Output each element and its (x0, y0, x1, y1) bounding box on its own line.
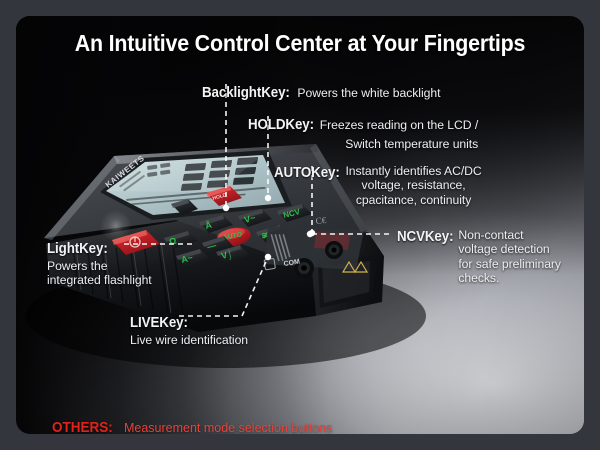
content-panel: KAIWEETS HOLD (16, 16, 584, 434)
infographic-root: KAIWEETS HOLD (0, 0, 600, 450)
annotation-hold: HOLDKey:Freezes reading on the LCD / Swi… (248, 116, 478, 154)
annotation-hold-desc-2: Switch temperature units (345, 137, 478, 151)
annotation-live: LIVEKey: Live wire identification (130, 314, 248, 347)
annotation-hold-desc-1: Freezes reading on the LCD / (320, 118, 478, 132)
page-title: An Intuitive Control Center at Your Fing… (36, 30, 564, 57)
annotation-ncv-desc-2: voltage detection (458, 242, 561, 256)
annotation-light: LightKey: Powers the integrated flashlig… (47, 240, 152, 288)
annotation-light-key: LightKey: (47, 241, 108, 258)
annotation-auto-desc-3: cpacitance, continuity (345, 193, 481, 207)
annotation-backlight: BacklightKey:Powers the white backlight (202, 84, 440, 103)
annotation-auto: AUTOKey: Instantly identifies AC/DC volt… (274, 164, 482, 207)
footer-note-desc: Measurement mode selection buttons (124, 421, 332, 434)
annotation-ncv-desc-3: for safe preliminary (458, 257, 561, 271)
annotation-ncv-key: NCVKey: (397, 229, 453, 246)
background-vignette (16, 16, 584, 434)
annotation-auto-desc-1: Instantly identifies AC/DC (345, 164, 481, 178)
footer-note: OTHERS: Measurement mode selection butto… (52, 419, 332, 434)
annotation-hold-key: HOLDKey: (248, 117, 314, 134)
footer-note-key: OTHERS: (52, 419, 113, 434)
annotation-backlight-key: BacklightKey: (202, 85, 290, 102)
annotation-ncv-desc-1: Non-contact (458, 228, 561, 242)
annotation-live-key: LIVEKey: (130, 315, 188, 332)
annotation-light-desc-1: Powers the (47, 259, 152, 273)
annotation-ncv-desc-4: checks. (458, 271, 561, 285)
annotation-backlight-desc: Powers the white backlight (297, 86, 440, 100)
annotation-auto-desc-2: voltage, resistance, (345, 178, 481, 192)
annotation-live-desc-1: Live wire identification (130, 333, 248, 347)
annotation-ncv: NCVKey: Non-contact voltage detection fo… (397, 228, 561, 286)
annotation-light-desc-2: integrated flashlight (47, 273, 152, 287)
annotation-auto-key: AUTOKey: (274, 165, 340, 182)
